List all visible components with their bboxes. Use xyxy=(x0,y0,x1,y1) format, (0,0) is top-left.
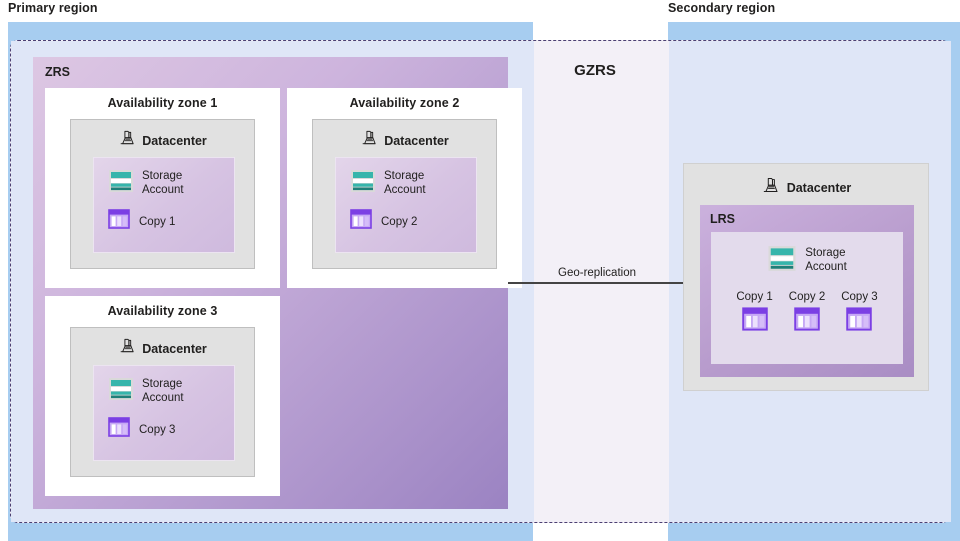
copy-icon xyxy=(108,417,130,442)
availability-zone-3-title: Availability zone 3 xyxy=(45,296,280,318)
datacenter-header: Datacenter xyxy=(684,164,928,200)
storage-account-row: Storage Account xyxy=(336,158,476,198)
storage-account-label-line1: Storage xyxy=(805,247,845,259)
availability-zone-3-card: Availability zone 3 xyxy=(45,296,280,496)
datacenter-label: Datacenter xyxy=(384,134,449,148)
storage-account-icon xyxy=(767,245,797,277)
copy-icon xyxy=(841,307,877,336)
storage-account-icon xyxy=(108,377,134,406)
copy-label: Copy 3 xyxy=(139,424,175,436)
datacenter-icon xyxy=(360,129,378,152)
copy-label: Copy 2 xyxy=(381,216,417,228)
storage-account-label-line2: Account xyxy=(384,184,426,196)
lrs-container: LRS Storage Account xyxy=(700,205,914,377)
storage-account-label: Storage Account xyxy=(142,378,184,405)
secondary-datacenter-box: Datacenter LRS Storag xyxy=(683,163,929,391)
storage-panel-zone-1: Storage Account xyxy=(93,157,235,253)
storage-panel-zone-3: Storage Account xyxy=(93,365,235,461)
primary-region-label: Primary region xyxy=(8,1,98,15)
datacenter-icon xyxy=(118,337,136,360)
lrs-copies-row: Copy 1 Copy 2 xyxy=(711,277,903,336)
copy-label: Copy 1 xyxy=(139,216,175,228)
datacenter-box-zone-1: Datacenter xyxy=(70,119,255,269)
datacenter-header: Datacenter xyxy=(71,328,254,360)
lrs-inner-panel: Storage Account Copy 1 xyxy=(711,232,903,364)
zrs-title: ZRS xyxy=(45,65,70,79)
storage-account-icon xyxy=(108,169,134,198)
gzrs-title: GZRS xyxy=(540,62,650,79)
copy-label: Copy 2 xyxy=(789,291,825,303)
copy-label: Copy 3 xyxy=(841,291,877,303)
zrs-container: ZRS Availability zone 1 xyxy=(33,57,508,509)
storage-account-label-line2: Account xyxy=(805,261,847,273)
copy-row-zone-1: Copy 1 xyxy=(94,198,234,234)
copy-row-zone-3: Copy 3 xyxy=(94,406,234,442)
lrs-copy-1: Copy 1 xyxy=(736,291,772,336)
storage-account-row: Storage Account xyxy=(711,232,903,277)
storage-account-row: Storage Account xyxy=(94,158,234,198)
lrs-copy-3: Copy 3 xyxy=(841,291,877,336)
datacenter-label: Datacenter xyxy=(142,134,207,148)
storage-account-label-line2: Account xyxy=(142,392,184,404)
storage-account-label-line1: Storage xyxy=(142,170,182,182)
availability-zone-2-title: Availability zone 2 xyxy=(287,88,522,110)
datacenter-box-zone-2: Datacenter xyxy=(312,119,497,269)
storage-account-label: Storage Account xyxy=(384,170,426,197)
copy-icon xyxy=(350,209,372,234)
datacenter-label: Datacenter xyxy=(142,342,207,356)
availability-zone-2-card: Availability zone 2 xyxy=(287,88,522,288)
storage-account-label: Storage Account xyxy=(805,247,847,274)
datacenter-icon xyxy=(761,176,780,200)
copy-label: Copy 1 xyxy=(736,291,772,303)
availability-zone-1-card: Availability zone 1 xyxy=(45,88,280,288)
datacenter-icon xyxy=(118,129,136,152)
storage-account-label: Storage Account xyxy=(142,170,184,197)
lrs-copy-2: Copy 2 xyxy=(789,291,825,336)
storage-account-icon xyxy=(350,169,376,198)
datacenter-header: Datacenter xyxy=(71,120,254,152)
lrs-title: LRS xyxy=(710,212,735,226)
storage-panel-zone-2: Storage Account xyxy=(335,157,477,253)
copy-row-zone-2: Copy 2 xyxy=(336,198,476,234)
datacenter-header: Datacenter xyxy=(313,120,496,152)
storage-account-label-line2: Account xyxy=(142,184,184,196)
diagram-canvas: Primary region Secondary region GZRS ZRS… xyxy=(0,0,960,541)
datacenter-label: Datacenter xyxy=(787,181,852,195)
storage-account-row: Storage Account xyxy=(94,366,234,406)
copy-icon xyxy=(789,307,825,336)
secondary-region-label: Secondary region xyxy=(668,1,775,15)
storage-account-label-line1: Storage xyxy=(384,170,424,182)
datacenter-box-zone-3: Datacenter xyxy=(70,327,255,477)
availability-zone-1-title: Availability zone 1 xyxy=(45,88,280,110)
copy-icon xyxy=(736,307,772,336)
storage-account-label-line1: Storage xyxy=(142,378,182,390)
copy-icon xyxy=(108,209,130,234)
